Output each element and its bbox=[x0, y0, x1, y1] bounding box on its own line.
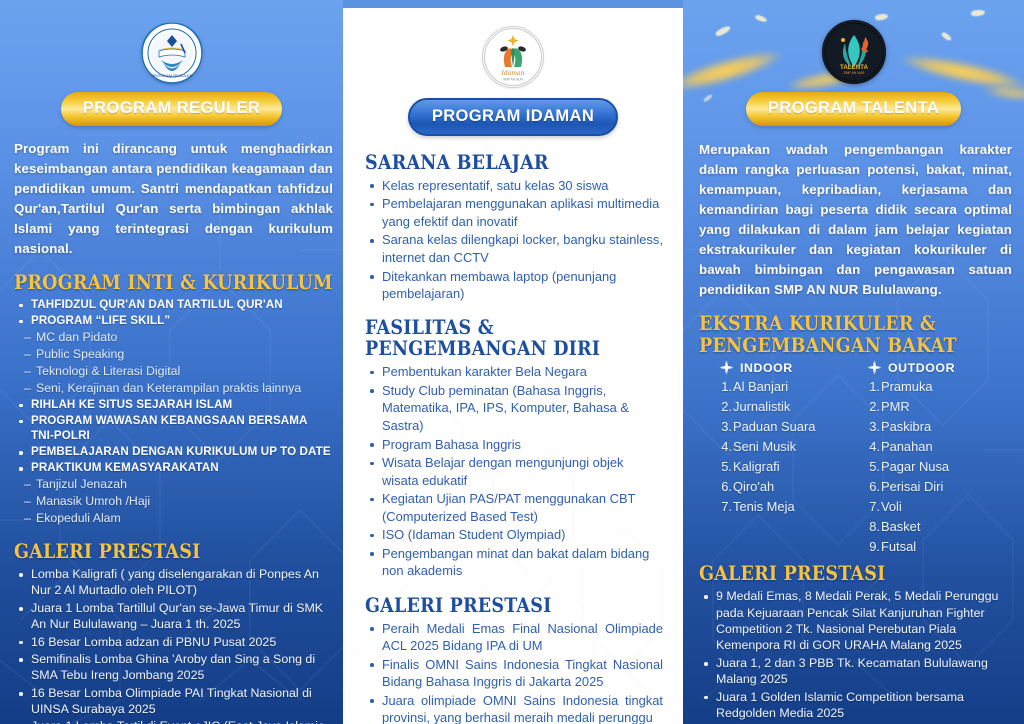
list-item: TAHFIDZUL QUR'AN DAN TARTILUL QUR'AN bbox=[14, 297, 333, 312]
logo-container-reguler: PROGRAM REGULER bbox=[0, 22, 343, 84]
list-item: Juara 1 Lomba Tartillul Qur'an se-Jawa T… bbox=[14, 600, 333, 633]
list-item: Voli bbox=[881, 497, 1009, 517]
panel-program-reguler: PROGRAM REGULER PROGRAM REGULER Program … bbox=[0, 0, 343, 724]
galeri-prestasi-list-left: Lomba Kaligrafi ( yang diselengarakan di… bbox=[14, 566, 333, 724]
section-title-galeri-prestasi-mid: Galeri Prestasi bbox=[365, 595, 663, 617]
idaman-white-card: Idaman SMP AN NUR PROGRAM IDAMAN Sarana … bbox=[343, 8, 683, 724]
svg-text:TALENTA: TALENTA bbox=[840, 64, 868, 71]
list-item: Juara 1 Golden Islamic Competition bersa… bbox=[699, 689, 1012, 722]
outdoor-label: OUTDOOR bbox=[888, 361, 955, 375]
badge-container-talenta: PROGRAM TALENTA bbox=[683, 92, 1024, 126]
outdoor-list: PramukaPMRPaskibraPanahanPagar NusaPeris… bbox=[867, 377, 1009, 557]
list-item: Kegiatan Ujian PAS/PAT menggunakan CBT (… bbox=[365, 490, 663, 525]
list-item: Basket bbox=[881, 517, 1009, 537]
list-item: Jurnalistik bbox=[733, 397, 861, 417]
section-title-ekstra-kurikuler: Ekstra Kurikuler & Pengembangan Bakat bbox=[699, 313, 959, 357]
list-item: Paduan Suara bbox=[733, 417, 861, 437]
talenta-intro-text: Merupakan wadah pengembangan karakter da… bbox=[699, 140, 1012, 300]
svg-text:SMP AN NUR: SMP AN NUR bbox=[503, 78, 523, 82]
list-item: Sarana kelas dilengkapi locker, bangku s… bbox=[365, 231, 663, 266]
svg-text:SMP AN NUR: SMP AN NUR bbox=[843, 71, 865, 75]
fasilitas-list: Pembentukan karakter Bela NegaraStudy Cl… bbox=[365, 363, 663, 580]
list-subitem: Seni, Kerajinan dan Keterampilan praktis… bbox=[14, 380, 333, 397]
section-title-galeri-prestasi-right: Galeri Prestasi bbox=[699, 563, 1012, 585]
indoor-label: INDOOR bbox=[740, 361, 793, 375]
indoor-column: INDOOR Al BanjariJurnalistikPaduan Suara… bbox=[719, 360, 861, 557]
list-item: Semifinalis Lomba Ghina 'Aroby dan Sing … bbox=[14, 651, 333, 684]
galeri-prestasi-list-mid: Peraih Medali Emas Final Nasional Olimpi… bbox=[365, 620, 663, 724]
list-item: Pembelajaran menggunakan aplikasi multim… bbox=[365, 195, 663, 230]
program-reguler-logo: PROGRAM REGULER bbox=[141, 22, 203, 84]
logo-container-idaman: Idaman SMP AN NUR bbox=[343, 26, 683, 88]
panel-program-talenta: TALENTA SMP AN NUR PROGRAM TALENTA Merup… bbox=[683, 0, 1024, 724]
indoor-list: Al BanjariJurnalistikPaduan SuaraSeni Mu… bbox=[719, 377, 861, 517]
list-item: 16 Besar Lomba adzan di PBNU Pusat 2025 bbox=[14, 634, 333, 650]
section-title-galeri-prestasi-left: Galeri Prestasi bbox=[14, 541, 333, 563]
section-title-fasilitas: Fasilitas & Pengembangan Diri bbox=[365, 317, 663, 361]
program-reguler-badge[interactable]: PROGRAM REGULER bbox=[61, 92, 282, 126]
ekstrakurikuler-columns: INDOOR Al BanjariJurnalistikPaduan Suara… bbox=[699, 360, 1012, 557]
list-item: Peraih Medali Emas Final Nasional Olimpi… bbox=[365, 620, 663, 655]
idaman-emblem-icon: Idaman SMP AN NUR bbox=[483, 27, 543, 87]
outdoor-column: OUTDOOR PramukaPMRPaskibraPanahanPagar N… bbox=[867, 360, 1009, 557]
sparkle-icon bbox=[719, 360, 734, 375]
program-inti-list: TAHFIDZUL QUR'AN DAN TARTILUL QUR'ANPROG… bbox=[14, 297, 333, 527]
list-item: Study Club peminatan (Bahasa Inggris, Ma… bbox=[365, 382, 663, 435]
badge-container-idaman: PROGRAM IDAMAN bbox=[343, 98, 683, 136]
list-item: Juara olimpiade OMNI Sains Indonesia tin… bbox=[365, 692, 663, 724]
reguler-intro-text: Program ini dirancang untuk menghadirkan… bbox=[14, 139, 333, 259]
list-subitem: Public Speaking bbox=[14, 346, 333, 363]
list-item: PMR bbox=[881, 397, 1009, 417]
list-item: Perisai Diri bbox=[881, 477, 1009, 497]
list-item: 9 Medali Emas, 8 Medali Perak, 5 Medali … bbox=[699, 588, 1012, 654]
outdoor-header: OUTDOOR bbox=[867, 360, 1009, 375]
list-subitem: MC dan Pidato bbox=[14, 329, 333, 346]
list-item: Ditekankan membawa laptop (penunjang pem… bbox=[365, 268, 663, 303]
badge-container-reguler: PROGRAM REGULER bbox=[0, 92, 343, 126]
list-item: RIHLAH KE SITUS SEJARAH ISLAM bbox=[14, 397, 333, 412]
list-item: Program Bahasa Inggris bbox=[365, 436, 663, 454]
list-subitem: Manasik Umroh /Haji bbox=[14, 493, 333, 510]
list-item: Kelas representatif, satu kelas 30 siswa bbox=[365, 177, 663, 195]
list-item: Pengembangan minat dan bakat dalam bidan… bbox=[365, 545, 663, 580]
svg-text:PROGRAM REGULER: PROGRAM REGULER bbox=[151, 73, 192, 78]
program-talenta-badge[interactable]: PROGRAM TALENTA bbox=[746, 92, 961, 126]
list-item: PEMBELAJARAN DENGAN KURIKULUM UP TO DATE bbox=[14, 444, 333, 459]
program-talenta-logo: TALENTA SMP AN NUR bbox=[822, 20, 886, 84]
list-item: Juara 1, 2 dan 3 PBB Tk. Kecamatan Bulul… bbox=[699, 655, 1012, 688]
list-item: 16 Besar Lomba Olimpiade PAI Tingkat Nas… bbox=[14, 685, 333, 718]
list-subitem: Ekopeduli Alam bbox=[14, 510, 333, 527]
section-title-program-inti: Program Inti & Kurikulum bbox=[14, 272, 333, 294]
list-item: Pembentukan karakter Bela Negara bbox=[365, 363, 663, 381]
list-item: Kaligrafi bbox=[733, 457, 861, 477]
list-item: Pramuka bbox=[881, 377, 1009, 397]
panel-program-idaman: Idaman SMP AN NUR PROGRAM IDAMAN Sarana … bbox=[343, 0, 683, 724]
section-title-sarana-belajar: Sarana Belajar bbox=[365, 152, 663, 174]
list-item: PRAKTIKUM KEMASYARAKATAN bbox=[14, 460, 333, 475]
list-item: PROGRAM WAWASAN KEBANGSAAN BERSAMA TNI-P… bbox=[14, 413, 333, 443]
program-idaman-logo: Idaman SMP AN NUR bbox=[482, 26, 544, 88]
brochure-page: PROGRAM REGULER PROGRAM REGULER Program … bbox=[0, 0, 1024, 724]
list-item: Seni Musik bbox=[733, 437, 861, 457]
logo-container-talenta: TALENTA SMP AN NUR bbox=[683, 20, 1024, 84]
svg-text:Idaman: Idaman bbox=[501, 70, 525, 77]
galeri-prestasi-list-right: 9 Medali Emas, 8 Medali Perak, 5 Medali … bbox=[699, 588, 1012, 724]
sparkle-icon bbox=[867, 360, 882, 375]
list-item: Paskibra bbox=[881, 417, 1009, 437]
list-item: Tenis Meja bbox=[733, 497, 861, 517]
list-subitem: Tanjizul Jenazah bbox=[14, 476, 333, 493]
list-item: ISO (Idaman Student Olympiad) bbox=[365, 526, 663, 544]
list-item: Pagar Nusa bbox=[881, 457, 1009, 477]
list-item: Wisata Belajar dengan mengunjungi objek … bbox=[365, 454, 663, 489]
program-idaman-badge[interactable]: PROGRAM IDAMAN bbox=[408, 98, 618, 136]
school-emblem-icon: PROGRAM REGULER bbox=[141, 22, 203, 84]
talenta-emblem-icon: TALENTA SMP AN NUR bbox=[823, 21, 885, 83]
list-item: PROGRAM “LIFE SKILL” bbox=[14, 313, 333, 328]
list-item: Al Banjari bbox=[733, 377, 861, 397]
list-item: Futsal bbox=[881, 537, 1009, 557]
list-item: Juara 1 Lomba Tartil di Event eJIC (East… bbox=[14, 718, 333, 724]
list-item: Lomba Kaligrafi ( yang diselengarakan di… bbox=[14, 566, 333, 599]
list-item: Qiro'ah bbox=[733, 477, 861, 497]
list-item: Panahan bbox=[881, 437, 1009, 457]
list-subitem: Teknologi & Literasi Digital bbox=[14, 363, 333, 380]
sarana-belajar-list: Kelas representatif, satu kelas 30 siswa… bbox=[365, 177, 663, 303]
indoor-header: INDOOR bbox=[719, 360, 861, 375]
list-item: Finalis OMNI Sains Indonesia Tingkat Nas… bbox=[365, 656, 663, 691]
